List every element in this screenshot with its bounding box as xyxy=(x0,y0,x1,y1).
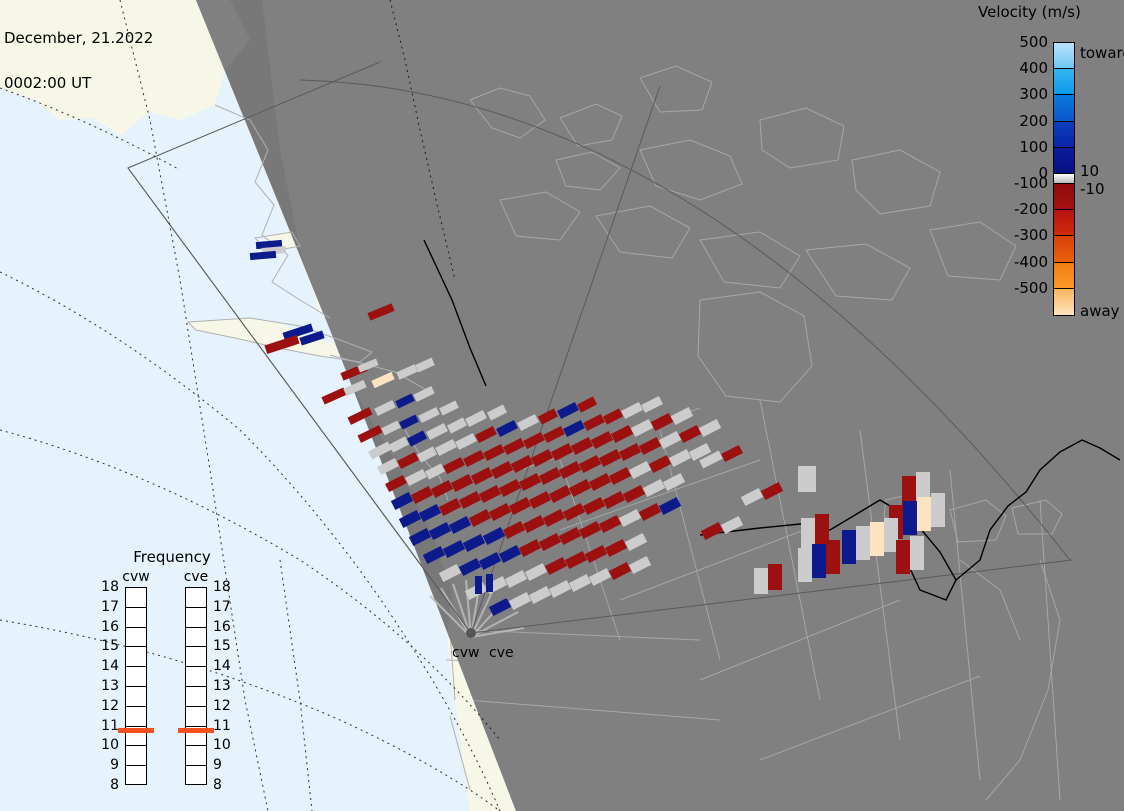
colorbar-tick-100: 100 xyxy=(1000,138,1048,156)
colorbar-band-7 xyxy=(1054,210,1074,236)
frequency-cell xyxy=(186,746,206,766)
frequency-bar-cvw xyxy=(125,587,147,785)
frequency-cell xyxy=(126,608,146,628)
radar-cell xyxy=(812,544,826,578)
frequency-tick-right-12: 12 xyxy=(213,698,233,714)
frequency-column-header-cvw: cvw xyxy=(113,569,159,585)
radar-site-label-cvw: cvw xyxy=(452,645,479,661)
colorbar-tick-500: 500 xyxy=(1000,33,1048,51)
frequency-tick-left-10: 10 xyxy=(99,737,119,753)
radar-cell xyxy=(815,514,829,544)
radar-cell xyxy=(917,497,931,531)
radar-cell xyxy=(475,576,482,594)
colorbar-toward-label: toward xyxy=(1080,44,1124,62)
radar-cell xyxy=(931,493,945,527)
colorbar-tick--500: -500 xyxy=(1000,279,1048,297)
frequency-cell xyxy=(126,766,146,786)
frequency-tick-left-17: 17 xyxy=(99,599,119,615)
colorbar-band-0 xyxy=(1054,43,1074,69)
frequency-tick-left-12: 12 xyxy=(99,698,119,714)
radar-cell xyxy=(910,536,924,570)
frequency-cell xyxy=(186,687,206,707)
colorbar-band-6 xyxy=(1054,184,1074,210)
radar-cell xyxy=(903,501,917,535)
radar-cell xyxy=(768,564,782,590)
colorbar-band-8 xyxy=(1054,236,1074,262)
frequency-cell xyxy=(126,628,146,648)
frequency-bar-cve xyxy=(185,587,207,785)
radar-cell xyxy=(842,530,856,564)
colorbar-band-3 xyxy=(1054,122,1074,148)
colorbar-band-9 xyxy=(1054,263,1074,289)
frequency-cell xyxy=(186,628,206,648)
frequency-tick-left-15: 15 xyxy=(99,638,119,654)
frequency-tick-left-18: 18 xyxy=(99,579,119,595)
frequency-cell xyxy=(126,588,146,608)
radar-cell xyxy=(798,548,812,582)
frequency-marker-cve xyxy=(178,728,214,733)
frequency-tick-left-16: 16 xyxy=(99,619,119,635)
colorbar-tick--400: -400 xyxy=(1000,253,1048,271)
frequency-tick-right-9: 9 xyxy=(213,757,233,773)
frequency-tick-right-16: 16 xyxy=(213,619,233,635)
frequency-tick-left-14: 14 xyxy=(99,658,119,674)
frequency-cell xyxy=(126,647,146,667)
frequency-cell xyxy=(186,707,206,727)
colorbar-inner-top-label: 10 xyxy=(1080,162,1099,180)
radar-cell xyxy=(870,522,884,556)
radar-site-label-cve: cve xyxy=(489,645,514,661)
frequency-cell xyxy=(186,766,206,786)
frequency-cell xyxy=(126,707,146,727)
radar-cell xyxy=(884,518,898,552)
frequency-tick-right-10: 10 xyxy=(213,737,233,753)
radar-cell xyxy=(798,466,816,492)
frequency-cell xyxy=(126,746,146,766)
title-date: December, 21.2022 xyxy=(4,31,153,46)
radar-cell xyxy=(896,540,910,574)
colorbar-band-2 xyxy=(1054,95,1074,121)
frequency-tick-right-15: 15 xyxy=(213,638,233,654)
frequency-tick-right-18: 18 xyxy=(213,579,233,595)
frequency-tick-left-8: 8 xyxy=(99,777,119,793)
frequency-cell xyxy=(186,647,206,667)
frequency-cell xyxy=(186,588,206,608)
frequency-cell xyxy=(186,608,206,628)
radar-velocity-map: December, 21.2022 0002:00 UT Velocity (m… xyxy=(0,0,1124,811)
frequency-tick-right-11: 11 xyxy=(213,718,233,734)
colorbar-tick--300: -300 xyxy=(1000,226,1048,244)
frequency-marker-cvw xyxy=(118,728,154,733)
frequency-cell xyxy=(186,667,206,687)
frequency-cell xyxy=(126,687,146,707)
frequency-tick-right-14: 14 xyxy=(213,658,233,674)
radar-cell xyxy=(754,568,768,594)
radar-cell xyxy=(486,574,493,592)
colorbar-band-1 xyxy=(1054,69,1074,95)
frequency-tick-right-17: 17 xyxy=(213,599,233,615)
radar-cell xyxy=(856,526,870,560)
frequency-cell xyxy=(126,667,146,687)
frequency-panel: Frequency cvw cve 18171615141312111098 1… xyxy=(95,548,245,788)
colorbar-tick--200: -200 xyxy=(1000,200,1048,218)
frequency-tick-right-13: 13 xyxy=(213,678,233,694)
colorbar-title: Velocity (m/s) xyxy=(978,3,1081,21)
frequency-tick-left-13: 13 xyxy=(99,678,119,694)
colorbar-band-10 xyxy=(1054,289,1074,315)
colorbar-tick-300: 300 xyxy=(1000,85,1048,103)
radar-cell xyxy=(801,518,815,548)
frequency-tick-left-9: 9 xyxy=(99,757,119,773)
colorbar-tick--100: -100 xyxy=(1000,174,1048,192)
colorbar-band-5 xyxy=(1054,174,1074,184)
colorbar-band-4 xyxy=(1054,148,1074,174)
colorbar-tick-200: 200 xyxy=(1000,112,1048,130)
colorbar-inner-bottom-label: -10 xyxy=(1080,180,1105,198)
colorbar-away-label: away xyxy=(1080,302,1120,320)
radar-cell xyxy=(826,540,840,574)
frequency-tick-left-11: 11 xyxy=(99,718,119,734)
velocity-colorbar xyxy=(1053,42,1075,316)
title-time: 0002:00 UT xyxy=(4,76,153,91)
frequency-title: Frequency xyxy=(107,548,237,566)
title-block: December, 21.2022 0002:00 UT xyxy=(4,1,153,121)
frequency-tick-right-8: 8 xyxy=(213,777,233,793)
colorbar-tick-400: 400 xyxy=(1000,59,1048,77)
